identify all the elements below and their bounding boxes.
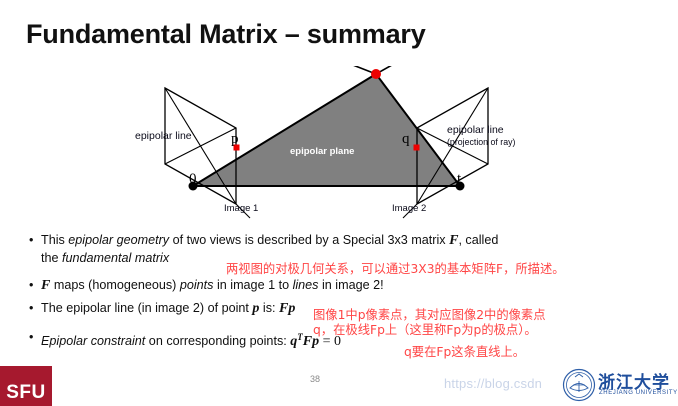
bullet-2-text-c: in image 2! (318, 278, 383, 292)
bullet-4-italic-epipolar-constraint: Epipolar constraint (41, 334, 145, 348)
ray-arrow-left-line (304, 66, 376, 74)
bullet-2-text-a: maps (homogeneous) (50, 278, 180, 292)
sfu-logo: SFU (0, 366, 52, 406)
label-epipolar-plane: epipolar plane (290, 146, 354, 157)
sfu-logo-text: SFU (6, 382, 46, 404)
point-q-marker (414, 145, 420, 151)
bullet-2-italic-points: points (180, 278, 214, 292)
label-image-1: Image 1 (224, 203, 258, 214)
bullet-1-italic-fundamental-matrix: fundamental matrix (62, 251, 169, 265)
label-point-q: q (402, 131, 410, 148)
bullet-4-text-a: on corresponding points: (145, 334, 290, 348)
page-title: Fundamental Matrix – summary (26, 19, 426, 50)
label-epipolar-line-right: epipolar line (447, 124, 504, 136)
annotation-bullet-1-chinese: 两视图的对极几何关系，可以通过3X3的基本矩阵F，所描述。 (226, 259, 565, 277)
zhejiang-university-logo: 浙江大学 ZHEJIANG UNIVERSITY (562, 366, 674, 404)
bullet-2-italic-lines: lines (293, 278, 319, 292)
slide-canvas: Fundamental Matrix – summary (0, 0, 678, 406)
bullet-1-text-d: the (41, 251, 62, 265)
bullet-marker-3: • (29, 300, 33, 317)
zju-emblem-icon (562, 368, 596, 402)
label-camera-origin: 0 (189, 171, 197, 188)
bullet-marker-2: • (29, 277, 33, 294)
label-epipolar-line-left: epipolar line (135, 130, 192, 142)
bullet-3-text-b: is: (259, 301, 279, 315)
csdn-watermark: https://blog.csdn (444, 376, 542, 391)
zju-logo-english-name: ZHEJIANG UNIVERSITY (599, 390, 678, 396)
bullet-2-text-b: in image 1 to (213, 278, 292, 292)
annotation-bullet-3-chinese-line2: q，在极线Fp上（这里称Fp为p的极点）。 (313, 320, 537, 338)
label-point-p: p (231, 131, 239, 148)
bullet-2-math-F: F (41, 278, 50, 293)
bullet-item-2: • F maps (homogeneous) points in image 1… (27, 277, 667, 295)
label-camera-translation: t (457, 171, 461, 188)
bullet-marker-4: • (29, 329, 33, 346)
label-epipolar-line-right-sub: (projection of ray) (447, 137, 515, 147)
label-image-2: Image 2 (392, 203, 426, 214)
bullet-1-text-a: This (41, 233, 68, 247)
bullet-3-text-a: The epipolar line (in image 2) of point (41, 301, 252, 315)
bullet-3-math-Fp: Fp (279, 301, 295, 316)
scene-point-marker (371, 69, 381, 79)
annotation-bullet-4-chinese: q要在Fp这条直线上。 (404, 342, 525, 360)
page-number: 38 (310, 374, 320, 384)
ray-arrow-right-line (376, 66, 440, 74)
bullet-1-text-b: of two views is described by a Special 3… (169, 233, 449, 247)
bullet-1-text-c: , called (458, 233, 498, 247)
bullet-1-italic-epipolar-geometry: epipolar geometry (68, 233, 169, 247)
bullet-marker-1: • (29, 232, 33, 249)
